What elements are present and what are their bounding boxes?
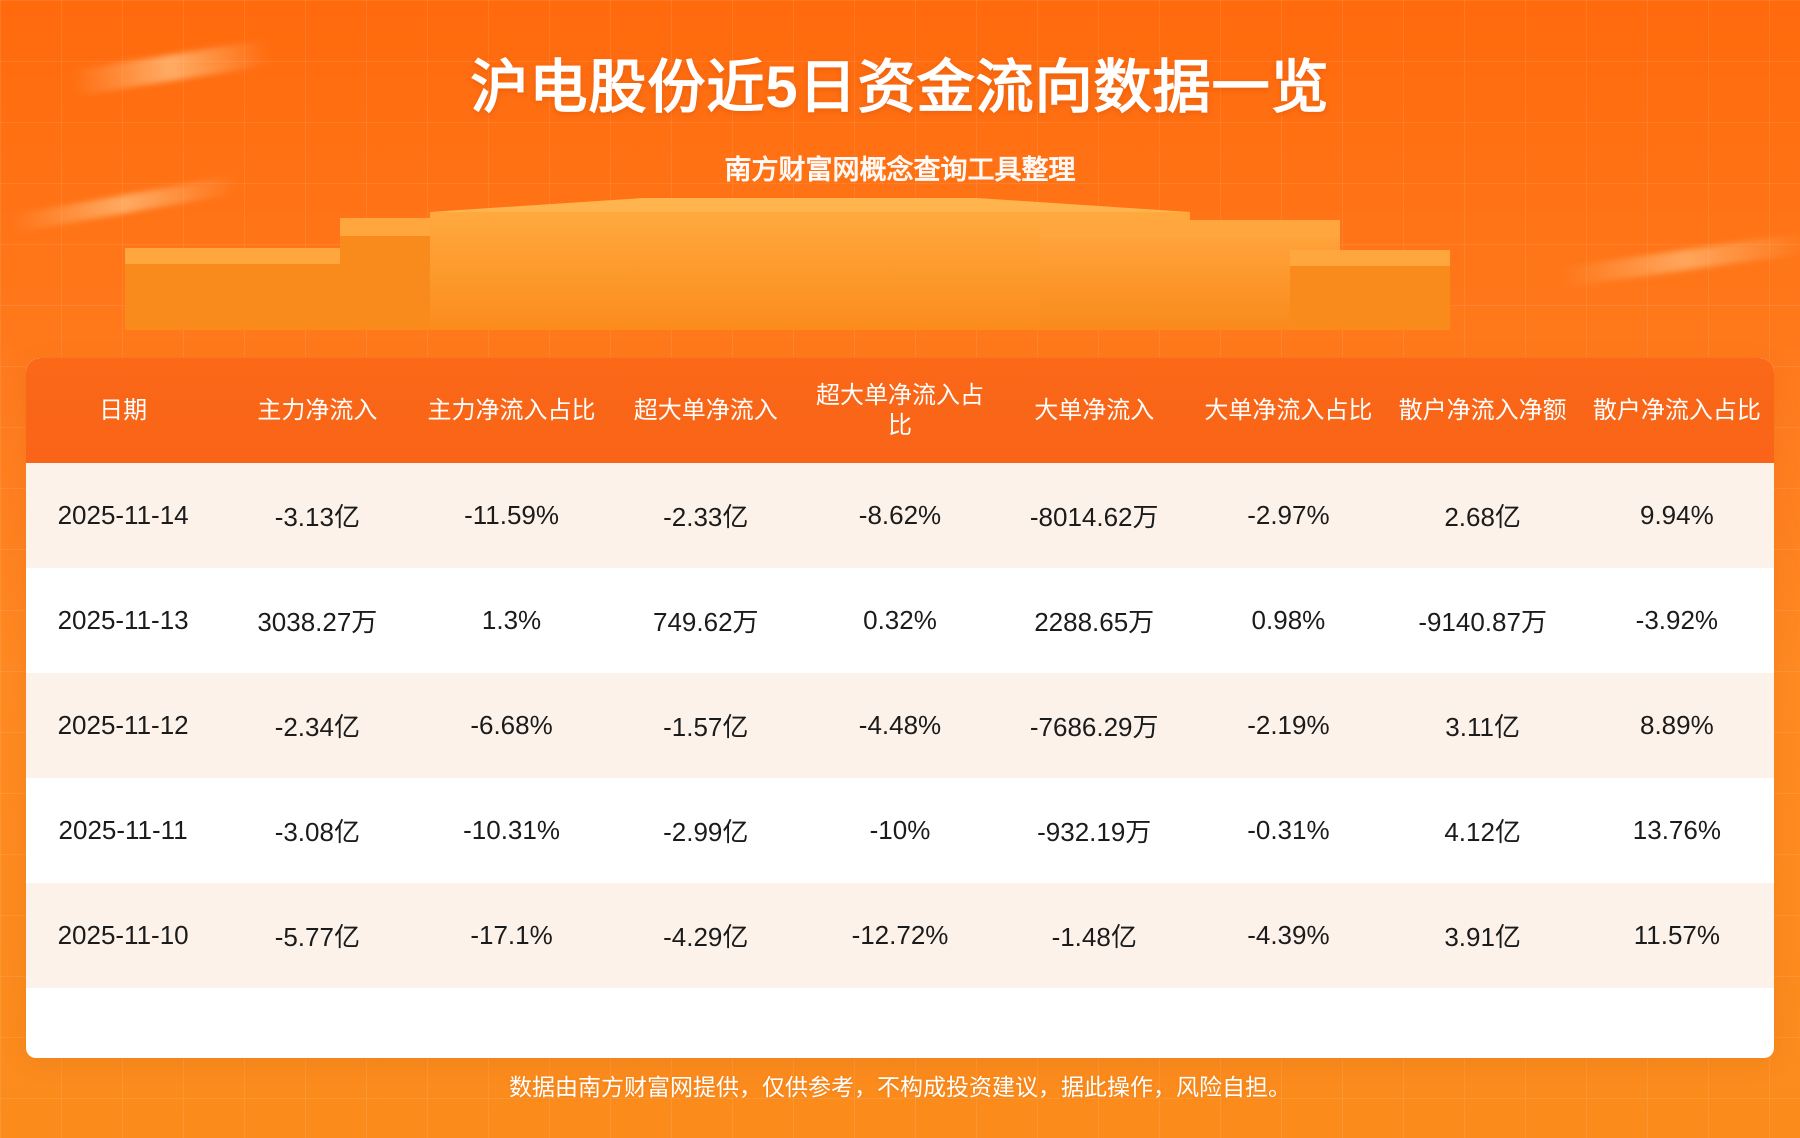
cell-main-pct: -11.59% bbox=[414, 463, 608, 568]
cell-retail-pct: -3.92% bbox=[1580, 568, 1774, 673]
cell-lg-pct: -4.39% bbox=[1191, 883, 1385, 988]
column-header-main-pct[interactable]: 主力净流入占比 bbox=[414, 358, 608, 463]
cell-main-net: -5.77亿 bbox=[220, 883, 414, 988]
cell-retail-net: 4.12亿 bbox=[1386, 778, 1580, 883]
cell-retail-pct: 9.94% bbox=[1580, 463, 1774, 568]
cell-lg-net: 2288.65万 bbox=[997, 568, 1191, 673]
cell-xl-pct: -10% bbox=[803, 778, 997, 883]
cell-retail-net: 3.91亿 bbox=[1386, 883, 1580, 988]
cell-lg-net: -8014.62万 bbox=[997, 463, 1191, 568]
table-header-row: 日期 主力净流入 主力净流入占比 超大单净流入 超大单净流入占比 大单净流入 大… bbox=[26, 358, 1774, 463]
cell-retail-net: -9140.87万 bbox=[1386, 568, 1580, 673]
cell-retail-net: 2.68亿 bbox=[1386, 463, 1580, 568]
cell-xl-net: 749.62万 bbox=[609, 568, 803, 673]
footer-disclaimer: 数据由南方财富网提供，仅供参考，不构成投资建议，据此操作，风险自担。 bbox=[0, 1068, 1800, 1102]
cell-lg-pct: -2.19% bbox=[1191, 673, 1385, 778]
cell-main-pct: -6.68% bbox=[414, 673, 608, 778]
column-header-xl-net[interactable]: 超大单净流入 bbox=[609, 358, 803, 463]
podium-decoration bbox=[0, 180, 1800, 330]
column-header-main-net[interactable]: 主力净流入 bbox=[220, 358, 414, 463]
cell-xl-net: -2.99亿 bbox=[609, 778, 803, 883]
cell-date: 2025-11-13 bbox=[26, 568, 220, 673]
data-table-card: 南方财富网 outhmoney.com 日期 主力净流入 主力净流入占比 超大单… bbox=[26, 358, 1774, 1058]
cell-lg-net: -7686.29万 bbox=[997, 673, 1191, 778]
cell-main-pct: -10.31% bbox=[414, 778, 608, 883]
cell-date: 2025-11-10 bbox=[26, 883, 220, 988]
cell-lg-net: -1.48亿 bbox=[997, 883, 1191, 988]
table-body: 2025-11-14-3.13亿-11.59%-2.33亿-8.62%-8014… bbox=[26, 463, 1774, 988]
column-header-date[interactable]: 日期 bbox=[26, 358, 220, 463]
column-header-retail-net[interactable]: 散户净流入净额 bbox=[1386, 358, 1580, 463]
column-header-lg-pct[interactable]: 大单净流入占比 bbox=[1191, 358, 1385, 463]
cell-xl-pct: -12.72% bbox=[803, 883, 997, 988]
cell-retail-pct: 8.89% bbox=[1580, 673, 1774, 778]
cell-main-pct: 1.3% bbox=[414, 568, 608, 673]
cell-main-net: 3038.27万 bbox=[220, 568, 414, 673]
cell-retail-pct: 11.57% bbox=[1580, 883, 1774, 988]
cell-date: 2025-11-14 bbox=[26, 463, 220, 568]
fund-flow-table: 日期 主力净流入 主力净流入占比 超大单净流入 超大单净流入占比 大单净流入 大… bbox=[26, 358, 1774, 988]
cell-xl-net: -2.33亿 bbox=[609, 463, 803, 568]
cell-xl-net: -4.29亿 bbox=[609, 883, 803, 988]
table-row[interactable]: 2025-11-10-5.77亿-17.1%-4.29亿-12.72%-1.48… bbox=[26, 883, 1774, 988]
column-header-lg-net[interactable]: 大单净流入 bbox=[997, 358, 1191, 463]
cell-retail-net: 3.11亿 bbox=[1386, 673, 1580, 778]
table-row[interactable]: 2025-11-11-3.08亿-10.31%-2.99亿-10%-932.19… bbox=[26, 778, 1774, 883]
table-row[interactable]: 2025-11-12-2.34亿-6.68%-1.57亿-4.48%-7686.… bbox=[26, 673, 1774, 778]
cell-lg-pct: -2.97% bbox=[1191, 463, 1385, 568]
cell-main-net: -3.13亿 bbox=[220, 463, 414, 568]
cell-xl-pct: -8.62% bbox=[803, 463, 997, 568]
cell-date: 2025-11-11 bbox=[26, 778, 220, 883]
cell-main-net: -2.34亿 bbox=[220, 673, 414, 778]
cell-xl-net: -1.57亿 bbox=[609, 673, 803, 778]
cell-lg-pct: -0.31% bbox=[1191, 778, 1385, 883]
cell-xl-pct: 0.32% bbox=[803, 568, 997, 673]
page-subtitle: 南方财富网概念查询工具整理 bbox=[0, 148, 1800, 187]
cell-lg-pct: 0.98% bbox=[1191, 568, 1385, 673]
page-title: 沪电股份近5日资金流向数据一览 bbox=[0, 40, 1800, 124]
column-header-xl-pct[interactable]: 超大单净流入占比 bbox=[803, 358, 997, 463]
cell-main-pct: -17.1% bbox=[414, 883, 608, 988]
column-header-retail-pct[interactable]: 散户净流入占比 bbox=[1580, 358, 1774, 463]
cell-main-net: -3.08亿 bbox=[220, 778, 414, 883]
table-header: 日期 主力净流入 主力净流入占比 超大单净流入 超大单净流入占比 大单净流入 大… bbox=[26, 358, 1774, 463]
cell-date: 2025-11-12 bbox=[26, 673, 220, 778]
cell-xl-pct: -4.48% bbox=[803, 673, 997, 778]
cell-retail-pct: 13.76% bbox=[1580, 778, 1774, 883]
table-row[interactable]: 2025-11-14-3.13亿-11.59%-2.33亿-8.62%-8014… bbox=[26, 463, 1774, 568]
table-row[interactable]: 2025-11-133038.27万1.3%749.62万0.32%2288.6… bbox=[26, 568, 1774, 673]
cell-lg-net: -932.19万 bbox=[997, 778, 1191, 883]
